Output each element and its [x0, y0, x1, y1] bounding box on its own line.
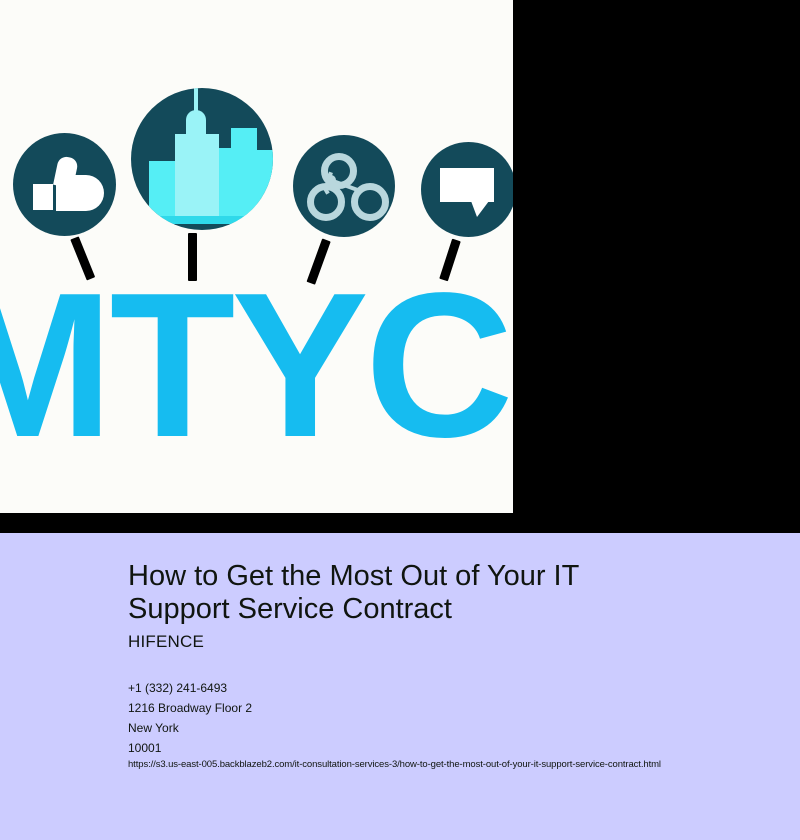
skyline-ground-shape: [139, 216, 269, 224]
thumb-pad-shape: [33, 184, 53, 210]
page-title: How to Get the Most Out of Your IT Suppo…: [128, 560, 688, 626]
skyline-needle-shape: [194, 88, 198, 118]
hero-image: MTYC: [0, 0, 513, 513]
contact-phone[interactable]: +1 (332) 241-6493: [128, 678, 768, 698]
hero-letterbox-band: MTYC: [0, 0, 800, 533]
network-hub-shape: [326, 175, 336, 185]
speech-bubble-body-shape: [440, 168, 494, 202]
contact-zip: 10001: [128, 738, 768, 758]
contact-street: 1216 Broadway Floor 2: [128, 698, 768, 718]
brand-name: HIFENCE: [128, 632, 204, 652]
speech-bubble-icon: [421, 142, 513, 237]
speech-bubble-tail-shape: [471, 201, 489, 217]
contact-block: +1 (332) 241-6493 1216 Broadway Floor 2 …: [128, 678, 768, 758]
thumbs-up-icon: [13, 133, 116, 236]
skyline-tower-shape: [175, 134, 219, 222]
page-root: MTYC How to Get the Most Out of Your IT …: [0, 0, 800, 840]
network-node-shape: [351, 183, 389, 221]
contact-city: New York: [128, 718, 768, 738]
skyline-building-shape: [235, 150, 273, 222]
hero-wordmark: MTYC: [0, 262, 513, 468]
source-url[interactable]: https://s3.us-east-005.backblazeb2.com/i…: [128, 759, 661, 771]
skyline-building-shape: [149, 161, 177, 221]
article-info-panel: How to Get the Most Out of Your IT Suppo…: [0, 533, 800, 840]
network-node-shape: [307, 183, 345, 221]
skyline-needle-tip-shape: [195, 88, 197, 90]
city-skyline-icon: [131, 88, 273, 230]
network-nodes-icon: [293, 135, 395, 237]
